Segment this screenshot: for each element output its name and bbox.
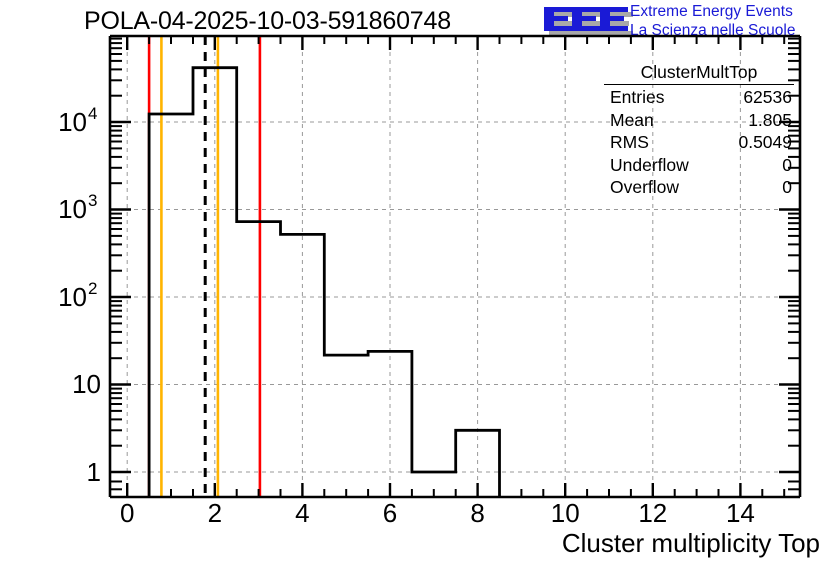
x-tick-label-12: 12	[638, 498, 667, 528]
x-tick-label-0: 0	[120, 498, 134, 528]
svg-text:10: 10	[58, 107, 87, 137]
root-canvas: POLA-04-2025-10-03-591860748	[0, 0, 836, 572]
stats-value: 0	[782, 154, 792, 177]
stats-value: 62536	[743, 86, 792, 109]
svg-text:10: 10	[58, 194, 87, 224]
x-tick-label-2: 2	[208, 498, 222, 528]
stats-key: Entries	[610, 86, 664, 109]
stats-key: Underflow	[610, 154, 689, 177]
x-tick-label-14: 14	[726, 498, 755, 528]
x-tick-label-4: 4	[295, 498, 309, 528]
svg-text:4: 4	[88, 104, 97, 123]
threshold-markers	[149, 36, 260, 497]
svg-text:2: 2	[88, 279, 97, 298]
y-tick-label-100: 10 2	[58, 279, 97, 312]
stats-value: 1.805	[748, 109, 792, 132]
x-tick-labels: 0 2 4 6 8 10 12 14	[120, 498, 755, 528]
stats-row: Mean 1.805	[604, 109, 794, 132]
histogram-outline	[149, 68, 499, 497]
y-tick-label-1000: 10 3	[58, 191, 97, 224]
stats-title: ClusterMultTop	[604, 62, 794, 85]
svg-text:3: 3	[88, 191, 97, 210]
stats-value: 0	[782, 176, 792, 199]
stats-box: ClusterMultTop Entries 62536 Mean 1.805 …	[604, 62, 794, 199]
x-tick-label-10: 10	[551, 498, 580, 528]
stats-key: RMS	[610, 131, 649, 154]
y-tick-label-10000: 10 4	[58, 104, 97, 137]
stats-row: Entries 62536	[604, 86, 794, 109]
y-tick-labels: 1 10 10 2 10 3 10 4	[58, 104, 101, 487]
x-tick-label-8: 8	[470, 498, 484, 528]
stats-value: 0.5049	[738, 131, 792, 154]
stats-row: RMS 0.5049	[604, 131, 794, 154]
stats-key: Mean	[610, 109, 654, 132]
stats-row: Underflow 0	[604, 154, 794, 177]
y-tick-label-1: 1	[87, 457, 101, 487]
y-tick-label-10: 10	[72, 369, 101, 399]
svg-text:10: 10	[58, 282, 87, 312]
x-axis-title: Cluster multiplicity Top	[0, 528, 820, 559]
x-tick-label-6: 6	[383, 498, 397, 528]
stats-key: Overflow	[610, 176, 679, 199]
stats-row: Overflow 0	[604, 176, 794, 199]
